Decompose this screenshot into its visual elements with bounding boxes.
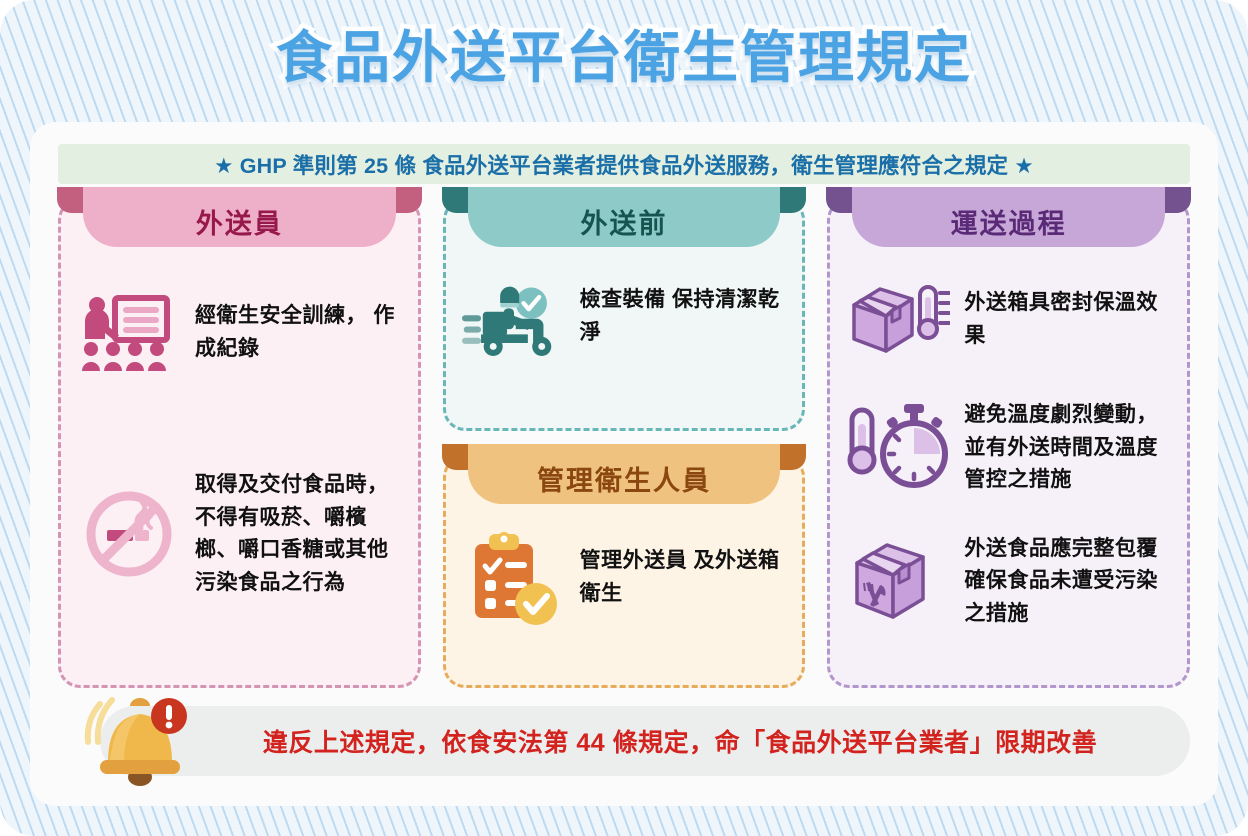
ribbon-tail-left: [826, 187, 852, 213]
column-delivery-person: 外送員: [58, 198, 421, 688]
no-smoking-icon: [77, 488, 181, 580]
ribbon-tail-right: [1165, 187, 1191, 213]
list-item-text: 外送箱具密封保溫效果: [964, 287, 1171, 352]
list-item: 外送箱具密封保溫效果: [830, 279, 1187, 361]
scooter-check-icon: [462, 271, 566, 363]
column-transport-process: 運送過程: [827, 198, 1190, 688]
ribbon-tail-left: [57, 187, 83, 213]
ribbon-before-delivery: 外送前: [468, 187, 781, 247]
card-title-delivery-person: 外送員: [196, 202, 283, 241]
card-title-before-delivery: 外送前: [581, 202, 668, 241]
items-transport-process: 外送箱具密封保溫效果: [830, 253, 1187, 630]
box-thermometer-icon: [846, 279, 950, 361]
list-item-text: 檢查裝備 保持清潔乾淨: [580, 284, 787, 349]
ribbon-body: 外送前: [468, 187, 781, 247]
ribbon-tail-right: [396, 187, 422, 213]
card-before-delivery: 外送前: [443, 198, 806, 431]
ribbon-hygiene-manager: 管理衛生人員: [468, 444, 781, 504]
card-title-hygiene-manager: 管理衛生人員: [537, 459, 711, 498]
infographic-poster: 食品外送平台衛生管理規定 ★ GHP 準則第 25 條 食品外送平台業者提供食品…: [0, 0, 1248, 836]
ribbon-delivery-person: 外送員: [83, 187, 396, 247]
card-title-transport-process: 運送過程: [951, 202, 1067, 241]
subtitle-banner: ★ GHP 準則第 25 條 食品外送平台業者提供食品外送服務，衛生管理應符合之…: [58, 144, 1190, 184]
cards-row: 外送員: [58, 198, 1190, 688]
list-item-text: 管理外送員 及外送箱衛生: [580, 545, 787, 610]
list-item-text: 避免溫度劇烈變動，並有外送時間及溫度管控之措施: [964, 399, 1171, 497]
card-hygiene-manager: 管理衛生人員: [443, 455, 806, 688]
warning-text: 違反上述規定，依食安法第 44 條規定，命「食品外送平台業者」限期改善: [193, 723, 1097, 759]
ribbon-tail-right: [780, 444, 806, 470]
column-middle: 外送前: [443, 198, 806, 688]
ribbon-body: 管理衛生人員: [468, 444, 781, 504]
ribbon-tail-right: [780, 187, 806, 213]
alert-bell-icon: [78, 690, 188, 794]
subtitle-text: ★ GHP 準則第 25 條 食品外送平台業者提供食品外送服務，衛生管理應符合之…: [214, 149, 1034, 180]
items-delivery-person: 經衛生安全訓練， 作成紀錄: [61, 253, 418, 599]
list-item-text: 取得及交付食品時，不得有吸菸、嚼檳榔、嚼口香糖或其他污染食品之行為: [195, 469, 402, 599]
training-board-icon: [77, 295, 181, 371]
page-title: 食品外送平台衛生管理規定: [276, 26, 972, 90]
ribbon-body: 運送過程: [852, 187, 1165, 247]
ribbon-transport-process: 運送過程: [852, 187, 1165, 247]
title-container: 食品外送平台衛生管理規定: [0, 26, 1248, 110]
list-item-text: 外送食品應完整包覆確保食品未遭受污染之措施: [964, 533, 1171, 631]
clipboard-check-icon: [462, 528, 566, 628]
list-item-text: 經衛生安全訓練， 作成紀錄: [195, 300, 402, 365]
list-item: 取得及交付食品時，不得有吸菸、嚼檳榔、嚼口香糖或其他污染食品之行為: [61, 469, 418, 599]
warning-banner: 違反上述規定，依食安法第 44 條規定，命「食品外送平台業者」限期改善: [100, 706, 1190, 776]
ribbon-body: 外送員: [83, 187, 396, 247]
list-item: 避免溫度劇烈變動，並有外送時間及溫度管控之措施: [830, 399, 1187, 497]
food-box-icon: [846, 537, 950, 625]
card-delivery-person: 外送員: [58, 198, 421, 688]
list-item: 經衛生安全訓練， 作成紀錄: [61, 295, 418, 371]
thermometer-stopwatch-icon: [846, 404, 950, 492]
list-item: 外送食品應完整包覆確保食品未遭受污染之措施: [830, 533, 1187, 631]
content-panel: ★ GHP 準則第 25 條 食品外送平台業者提供食品外送服務，衛生管理應符合之…: [30, 122, 1218, 806]
ribbon-tail-left: [442, 187, 468, 213]
ribbon-tail-left: [442, 444, 468, 470]
card-transport-process: 運送過程: [827, 198, 1190, 688]
list-item: 檢查裝備 保持清潔乾淨: [446, 271, 803, 363]
list-item: 管理外送員 及外送箱衛生: [446, 528, 803, 628]
